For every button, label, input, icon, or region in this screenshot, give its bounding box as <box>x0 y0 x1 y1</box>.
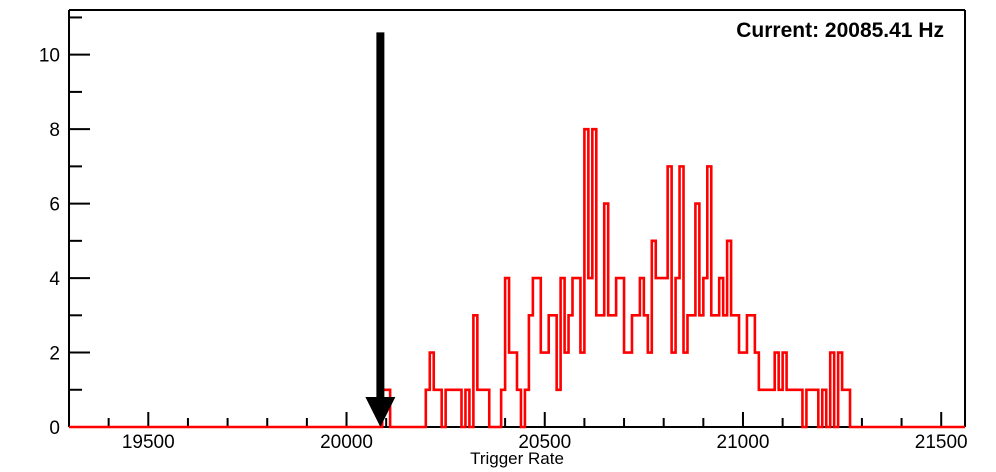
plot-svg: 0246810 1950020000205002100021500 Trigge… <box>0 0 996 472</box>
x-tick-label: 21500 <box>915 432 968 453</box>
y-tick-label: 4 <box>49 269 60 290</box>
y-tick-label: 6 <box>49 195 60 216</box>
histogram-series <box>69 129 965 427</box>
y-tick-label: 10 <box>39 46 60 67</box>
x-tick-label: 20000 <box>320 432 373 453</box>
x-tick-label: 21000 <box>717 432 770 453</box>
y-tick-label: 8 <box>49 120 60 141</box>
y-tick-label: 0 <box>49 418 60 439</box>
y-axis: 0246810 <box>39 17 90 439</box>
y-tick-label: 2 <box>49 344 60 365</box>
current-rate-readout: Current: 20085.41 Hz <box>736 19 944 42</box>
x-axis: 1950020000205002100021500 <box>69 412 968 453</box>
x-tick-label: 19500 <box>122 432 175 453</box>
x-axis-title: Trigger Rate <box>470 449 564 468</box>
current-rate-arrow <box>365 32 395 427</box>
trigger-rate-histogram-canvas: 0246810 1950020000205002100021500 Trigge… <box>0 0 996 472</box>
